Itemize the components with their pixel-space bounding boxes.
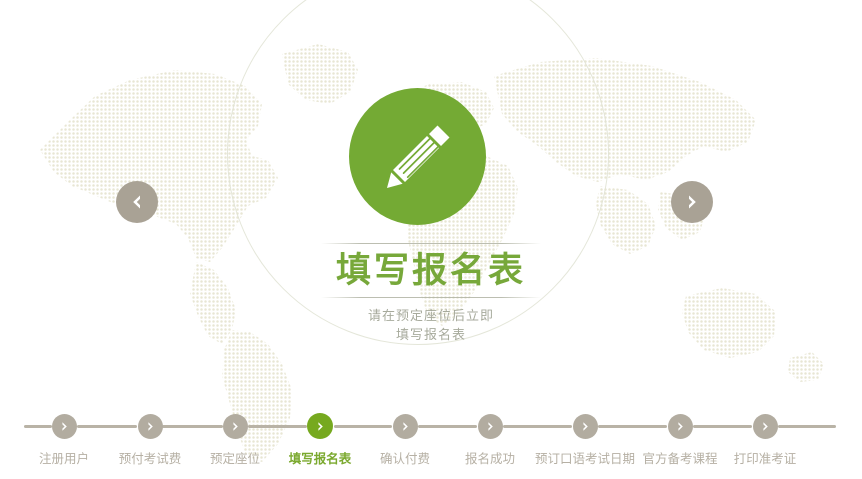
- hero-subtitle-line-2: 填写报名表: [0, 326, 862, 345]
- stepper-label-2[interactable]: 预付考试费: [119, 448, 182, 470]
- chevron-right-icon: [400, 421, 411, 432]
- stepper-label-9[interactable]: 打印准考证: [734, 448, 797, 470]
- chevron-right-icon: [683, 193, 701, 211]
- carousel-next-button[interactable]: [671, 181, 713, 223]
- hero-text-block: 填写报名表 请在预定座位后立即 填写报名表: [0, 243, 862, 345]
- stepper-connector: [598, 425, 667, 428]
- carousel-prev-button[interactable]: [116, 181, 158, 223]
- stepper-connector: [248, 425, 307, 428]
- stepper-label-7[interactable]: 预订口语考试日期: [535, 448, 635, 470]
- stepper-node-2[interactable]: [138, 414, 163, 439]
- stepper-node-1[interactable]: [52, 414, 77, 439]
- stepper-connector: [418, 425, 477, 428]
- carousel-slide: 填写报名表 请在预定座位后立即 填写报名表 注册用户预付考试费预定座位填写报名表…: [0, 0, 862, 479]
- chevron-right-icon: [59, 421, 70, 432]
- stepper-connector: [334, 425, 392, 428]
- stepper-connector: [77, 425, 137, 428]
- stepper-node-6[interactable]: [478, 414, 503, 439]
- stepper-node-4[interactable]: [307, 413, 333, 439]
- progress-stepper: 注册用户预付考试费预定座位填写报名表确认付费报名成功预订口语考试日期官方备考课程…: [0, 404, 862, 479]
- hero-subtitle: 请在预定座位后立即 填写报名表: [0, 307, 862, 345]
- hero-subtitle-line-1: 请在预定座位后立即: [0, 307, 862, 326]
- chevron-right-icon: [315, 421, 326, 432]
- stepper-node-7[interactable]: [573, 414, 598, 439]
- stepper-connector: [24, 425, 52, 428]
- stepper-label-1[interactable]: 注册用户: [39, 448, 89, 470]
- stepper-label-8[interactable]: 官方备考课程: [642, 448, 717, 470]
- chevron-right-icon: [145, 421, 156, 432]
- pencil-icon: [349, 88, 486, 225]
- divider-bottom: [321, 297, 541, 298]
- stepper-labels: 注册用户预付考试费预定座位填写报名表确认付费报名成功预订口语考试日期官方备考课程…: [0, 448, 862, 474]
- chevron-left-icon: [128, 193, 146, 211]
- chevron-right-icon: [675, 421, 686, 432]
- chevron-right-icon: [230, 421, 241, 432]
- stepper-connector: [503, 425, 572, 428]
- stepper-label-5[interactable]: 确认付费: [380, 448, 430, 470]
- stepper-label-3[interactable]: 预定座位: [210, 448, 260, 470]
- stepper-track: [0, 404, 862, 448]
- chevron-right-icon: [760, 421, 771, 432]
- stepper-node-8[interactable]: [668, 414, 693, 439]
- stepper-label-6[interactable]: 报名成功: [465, 448, 515, 470]
- stepper-connector: [778, 425, 836, 428]
- stepper-connector: [162, 425, 223, 428]
- page-title: 填写报名表: [0, 248, 862, 294]
- stepper-connector: [693, 425, 752, 428]
- stepper-node-3[interactable]: [223, 414, 248, 439]
- stepper-node-9[interactable]: [753, 414, 778, 439]
- stepper-label-4[interactable]: 填写报名表: [289, 448, 352, 470]
- chevron-right-icon: [580, 421, 591, 432]
- divider-top: [321, 243, 541, 244]
- chevron-right-icon: [485, 421, 496, 432]
- stepper-node-5[interactable]: [393, 414, 418, 439]
